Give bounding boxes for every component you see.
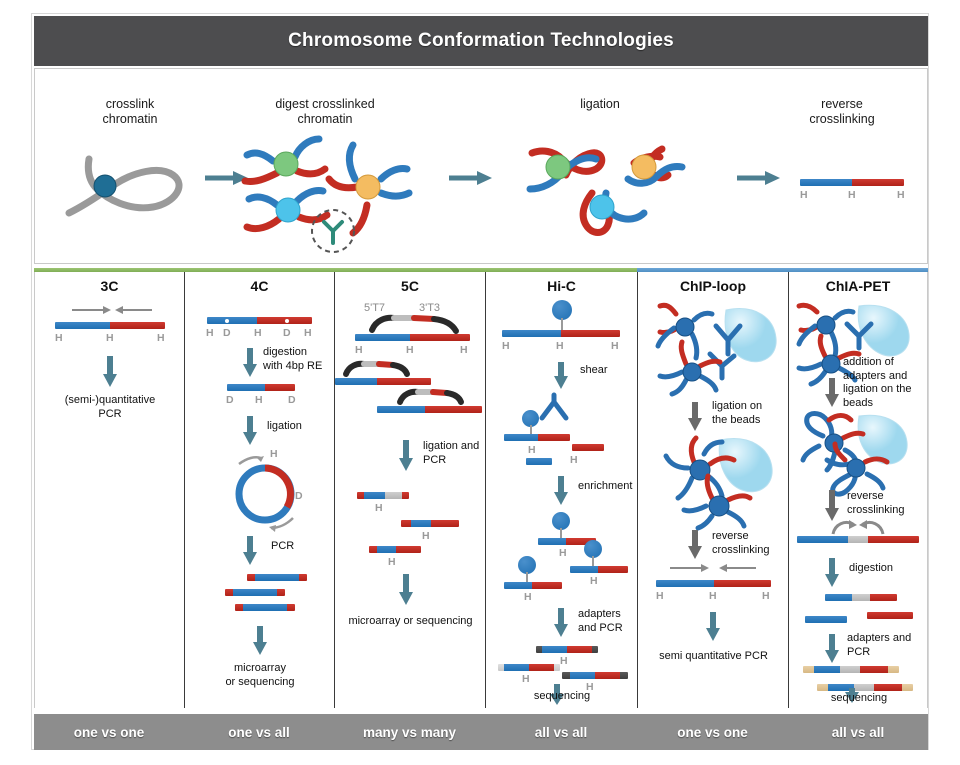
restriction-enzyme-icon bbox=[312, 210, 354, 252]
bead-stem bbox=[592, 556, 594, 566]
bead-stem bbox=[560, 528, 562, 538]
workflow-panel: crosslink chromatin digest crosslinked c… bbox=[34, 68, 928, 264]
footer-label-3c: one vs one bbox=[34, 714, 184, 750]
cut-site-arrows-icon bbox=[831, 520, 887, 536]
mark-h: H bbox=[656, 590, 664, 602]
figure-root: Chromosome Conformation Technologies cro… bbox=[31, 13, 929, 750]
biotin-bead-icon bbox=[552, 300, 572, 320]
mark-h: H bbox=[762, 590, 770, 602]
probe-pair-icon bbox=[368, 316, 460, 334]
technologies-columns: 3C H H H (semi-)quantitative PCR bbox=[34, 268, 928, 708]
primer-label-5pt7: 5'T7 bbox=[364, 302, 404, 316]
pcr-product-with-adapters bbox=[817, 684, 913, 691]
mark-h: H bbox=[460, 344, 468, 356]
dna-fragment bbox=[207, 317, 312, 324]
bead-stem bbox=[526, 572, 528, 582]
footer-label-hi-c: all vs all bbox=[485, 714, 637, 750]
workflow-arrow-3-icon bbox=[735, 169, 783, 187]
dna-fragment bbox=[526, 458, 552, 465]
dna-fragment bbox=[504, 434, 570, 441]
adapter-ligated-fragment bbox=[536, 646, 598, 653]
ligated-on-beads-icon bbox=[654, 434, 784, 526]
mark-h: H bbox=[55, 332, 63, 344]
ligation-product bbox=[401, 520, 459, 527]
step-label-chiapet-adapters-pcr: adapters and PCR bbox=[847, 632, 929, 659]
mark-h: H bbox=[559, 547, 567, 559]
mark-h: H bbox=[255, 394, 263, 406]
column-chip-loop[interactable]: ChIP-loop bbox=[637, 272, 788, 708]
step-arrow-icon bbox=[823, 632, 841, 664]
mark-h: H bbox=[422, 530, 430, 542]
dna-fragment bbox=[55, 322, 165, 329]
step-label-hic-output: sequencing bbox=[488, 690, 636, 704]
step-arrow-icon bbox=[101, 354, 119, 388]
step-label-4c-digestion: digestion with 4bp RE bbox=[263, 346, 335, 373]
mark-d: D bbox=[288, 394, 296, 406]
step-label-4c-ligation: ligation bbox=[267, 420, 333, 434]
mark-d: D bbox=[223, 327, 231, 339]
dna-fragment bbox=[227, 384, 295, 391]
footer-label-chip-loop: one vs one bbox=[637, 714, 788, 750]
workflow-step-reverse-crosslinking-label: reverse crosslinking bbox=[777, 97, 907, 127]
adapter-ligated-fragment bbox=[562, 672, 628, 679]
dna-fragment bbox=[504, 582, 562, 589]
step-label-hic-enrichment: enrichment bbox=[578, 480, 638, 494]
mark-h: H bbox=[570, 454, 578, 466]
mark-h: H bbox=[206, 327, 214, 339]
mark-h: H bbox=[270, 448, 278, 460]
mark-h: H bbox=[709, 590, 717, 602]
step-arrow-icon bbox=[704, 610, 722, 642]
probe-pair-icon bbox=[343, 362, 409, 378]
step-label-chiapet-digestion: digestion bbox=[849, 562, 925, 576]
column-5c[interactable]: 5C 5'T7 3'T3 H H H bbox=[334, 272, 485, 708]
step-label-chiapet-adapters: addition of adapters and ligation on the… bbox=[843, 356, 929, 410]
step-arrow-icon bbox=[686, 400, 704, 432]
primer-label-3pt3: 3'T3 bbox=[419, 302, 459, 316]
ligated-on-beads-chiapet-icon bbox=[799, 412, 924, 492]
column-title-hi-c: Hi-C bbox=[486, 278, 637, 294]
hybrid-fragment bbox=[800, 179, 904, 186]
comparison-footer: one vs one one vs all many vs many all v… bbox=[34, 714, 928, 750]
mark-h: H bbox=[800, 189, 808, 201]
step-arrow-icon bbox=[397, 572, 415, 606]
mark-h: H bbox=[157, 332, 165, 344]
mark-h: H bbox=[611, 340, 619, 352]
step-arrow-icon bbox=[397, 438, 415, 472]
mark-h: H bbox=[406, 344, 414, 356]
pcr-product bbox=[247, 574, 307, 581]
column-3c[interactable]: 3C H H H (semi-)quantitative PCR bbox=[34, 272, 184, 708]
column-title-4c: 4C bbox=[185, 278, 334, 294]
pcr-product bbox=[235, 604, 295, 611]
column-title-chip-loop: ChIP-loop bbox=[638, 278, 788, 294]
step-arrow-icon bbox=[552, 360, 570, 390]
digested-fragment bbox=[825, 594, 897, 601]
dna-fragment bbox=[502, 330, 620, 337]
mark-h: H bbox=[304, 327, 312, 339]
dna-fragment bbox=[572, 444, 604, 451]
dna-fragment bbox=[335, 378, 431, 385]
step-arrow-icon bbox=[241, 346, 259, 378]
step-arrow-icon bbox=[686, 528, 704, 560]
mark-h: H bbox=[528, 444, 536, 456]
mark-h: H bbox=[560, 655, 568, 667]
digestion-site-dot bbox=[225, 319, 229, 323]
dna-fragment bbox=[570, 566, 628, 573]
mark-h: H bbox=[848, 189, 856, 201]
workflow-step-ligation-label: ligation bbox=[540, 97, 660, 112]
column-hi-c[interactable]: Hi-C H H H shear bbox=[485, 272, 637, 708]
step-label-chiploop-ligation: ligation on the beads bbox=[712, 400, 788, 427]
step-label-4c-pcr: PCR bbox=[271, 540, 331, 554]
step-label-3c-pcr: (semi-)quantitative PCR bbox=[40, 394, 180, 421]
step-label-chiploop-reverse: reverse crosslinking bbox=[712, 530, 788, 557]
pcr-product-with-adapters bbox=[803, 666, 899, 673]
mark-d: D bbox=[295, 490, 303, 502]
adapter-ligated-fragment bbox=[498, 664, 560, 671]
column-title-3c: 3C bbox=[35, 278, 184, 294]
step-label-chiapet-reverse: reverse crosslinking bbox=[847, 490, 929, 517]
dna-fragment bbox=[377, 406, 482, 413]
column-4c[interactable]: 4C H D H D H digestion with 4bp RE D bbox=[184, 272, 334, 708]
column-chia-pet[interactable]: ChIA-PET bbox=[788, 272, 928, 708]
chip-beads-complex-icon bbox=[652, 302, 782, 394]
mark-h: H bbox=[355, 344, 363, 356]
mark-h: H bbox=[590, 575, 598, 587]
column-title-5c: 5C bbox=[335, 278, 485, 294]
step-arrow-icon bbox=[823, 376, 841, 408]
mark-h: H bbox=[254, 327, 262, 339]
mark-d: D bbox=[226, 394, 234, 406]
mark-h: H bbox=[897, 189, 905, 201]
workflow-step-digest-label: digest crosslinked chromatin bbox=[240, 97, 410, 127]
ligated-chromatin-icon bbox=[510, 131, 710, 256]
step-label-chiploop-output: semi quantitative PCR bbox=[640, 650, 787, 664]
step-label-5c-output: microarray or sequencing bbox=[337, 615, 484, 629]
footer-label-4c: one vs all bbox=[184, 714, 334, 750]
step-label-hic-shear: shear bbox=[580, 364, 636, 378]
dna-fragment bbox=[656, 580, 771, 587]
step-arrow-icon bbox=[251, 624, 269, 656]
pcr-primers-icon bbox=[668, 562, 760, 576]
pcr-product bbox=[225, 589, 285, 596]
digested-fragment bbox=[867, 612, 913, 619]
step-label-chiapet-output: sequencing bbox=[789, 692, 929, 706]
mark-h: H bbox=[522, 673, 530, 685]
step-label-hic-adapters: adapters and PCR bbox=[578, 608, 640, 635]
digested-fragment bbox=[805, 616, 847, 623]
step-label-4c-output: microarray or sequencing bbox=[190, 662, 330, 689]
mark-h: H bbox=[502, 340, 510, 352]
digestion-site-dot bbox=[285, 319, 289, 323]
footer-label-chia-pet: all vs all bbox=[788, 714, 928, 750]
footer-label-5c: many vs many bbox=[334, 714, 485, 750]
crosslinked-chromatin-icon bbox=[63, 141, 203, 219]
ligation-product bbox=[369, 546, 421, 553]
step-arrow-icon bbox=[241, 414, 259, 446]
dna-fragment bbox=[355, 334, 470, 341]
mark-h: H bbox=[524, 591, 532, 603]
mark-h: H bbox=[556, 340, 564, 352]
step-arrow-icon bbox=[552, 474, 570, 506]
probe-pair-icon bbox=[397, 390, 463, 406]
step-arrow-icon bbox=[823, 556, 841, 588]
column-title-chia-pet: ChIA-PET bbox=[789, 278, 927, 294]
mark-d: D bbox=[283, 327, 291, 339]
mark-h: H bbox=[106, 332, 114, 344]
workflow-step-crosslink-label: crosslink chromatin bbox=[65, 97, 195, 127]
step-arrow-icon bbox=[241, 534, 259, 566]
adapter-joined-fragment bbox=[797, 536, 919, 543]
mark-h: H bbox=[375, 502, 383, 514]
step-arrow-icon bbox=[552, 606, 570, 638]
mark-h: H bbox=[388, 556, 396, 568]
ligation-product bbox=[357, 492, 409, 499]
pcr-primers-icon bbox=[70, 304, 156, 318]
antibody-icon bbox=[532, 394, 582, 424]
step-arrow-icon bbox=[823, 488, 841, 522]
figure-title-bar: Chromosome Conformation Technologies bbox=[34, 16, 928, 66]
page-title: Chromosome Conformation Technologies bbox=[288, 30, 674, 52]
workflow-arrow-2-icon bbox=[447, 169, 495, 187]
digested-chromatin-icon bbox=[235, 131, 435, 256]
step-label-5c-ligation-pcr: ligation and PCR bbox=[423, 440, 487, 467]
